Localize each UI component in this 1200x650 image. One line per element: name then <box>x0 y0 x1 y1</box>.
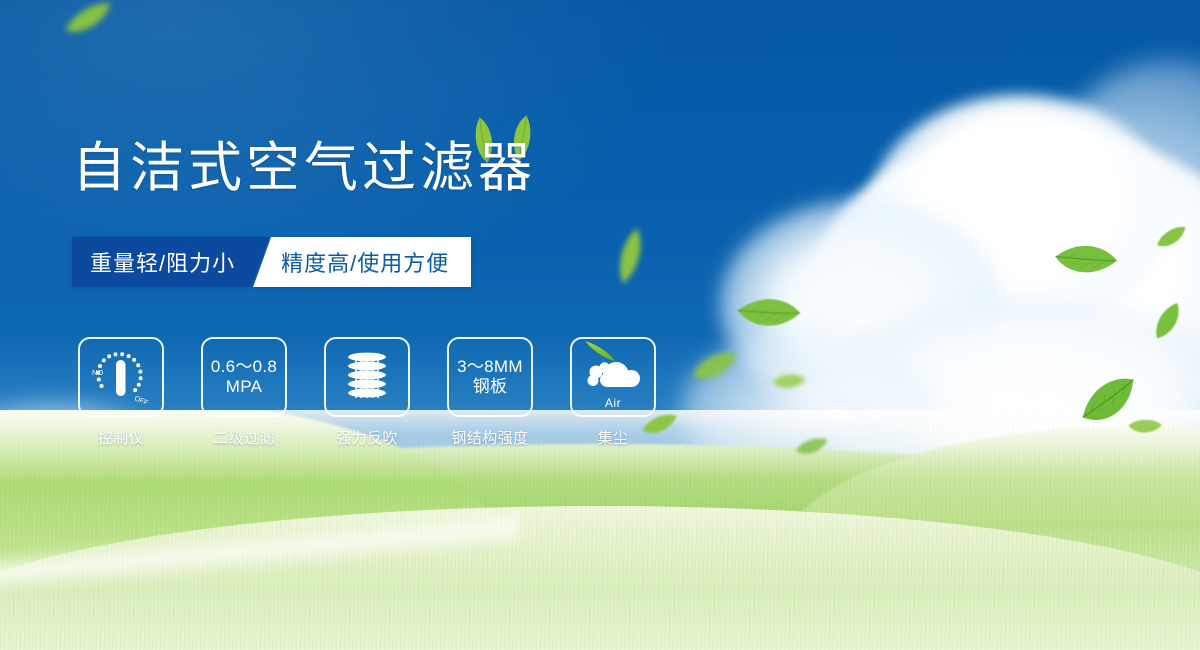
feature-item-control-gauge[interactable]: NO OFF 控制仪 <box>78 337 164 448</box>
feature-item-backblow[interactable]: 强力反吹 <box>324 337 410 448</box>
pressure-value: 0.6～0.8 <box>211 357 277 376</box>
feature-box-pressure: 0.6～0.8 MPA <box>201 337 287 417</box>
feature-box-dust-collect: Air <box>570 337 656 417</box>
steel-thickness: 3～8MM <box>457 357 523 376</box>
subtitle-right-badge: 精度高/使用方便 <box>253 237 471 287</box>
subtitle-bar: 重量轻/阻力小 精度高/使用方便 <box>72 237 471 287</box>
feature-box-steel: 3～8MM 钢板 <box>447 337 533 417</box>
svg-text:NO: NO <box>92 368 103 377</box>
feature-box-backblow <box>324 337 410 417</box>
feature-list: NO OFF 控制仪 0.6～0.8 MPA 二级过滤 <box>78 337 656 448</box>
banner-content: 自洁式空气过滤器 重量轻/阻力小 精度高/使用方便 <box>0 0 1200 650</box>
product-banner: 自洁式空气过滤器 重量轻/阻力小 精度高/使用方便 <box>0 0 1200 650</box>
feature-item-dust-collect[interactable]: Air 集尘 <box>570 337 656 448</box>
gauge-dial-icon: NO OFF <box>85 342 157 412</box>
filter-coil-icon <box>331 342 403 412</box>
feature-label-steel: 钢结构强度 <box>451 427 529 448</box>
feature-item-steel[interactable]: 3～8MM 钢板 钢结构强度 <box>447 337 533 448</box>
steel-material: 钢板 <box>457 377 523 397</box>
feature-box-control-gauge: NO OFF <box>78 337 164 417</box>
feature-label-backblow: 强力反吹 <box>336 427 398 448</box>
feature-label-pressure: 二级过滤 <box>213 427 275 448</box>
feature-item-pressure[interactable]: 0.6～0.8 MPA 二级过滤 <box>201 337 287 448</box>
steel-plate-text-icon: 3～8MM 钢板 <box>457 357 523 397</box>
air-cloud-word: Air <box>572 396 654 410</box>
subtitle-left-badge: 重量轻/阻力小 <box>72 237 269 287</box>
feature-label-dust-collect: 集尘 <box>597 427 628 448</box>
page-title: 自洁式空气过滤器 <box>72 141 536 195</box>
pressure-text-icon: 0.6～0.8 MPA <box>211 357 277 397</box>
svg-text:OFF: OFF <box>133 395 149 407</box>
pressure-unit: MPA <box>211 377 277 397</box>
feature-label-control-gauge: 控制仪 <box>98 427 145 448</box>
